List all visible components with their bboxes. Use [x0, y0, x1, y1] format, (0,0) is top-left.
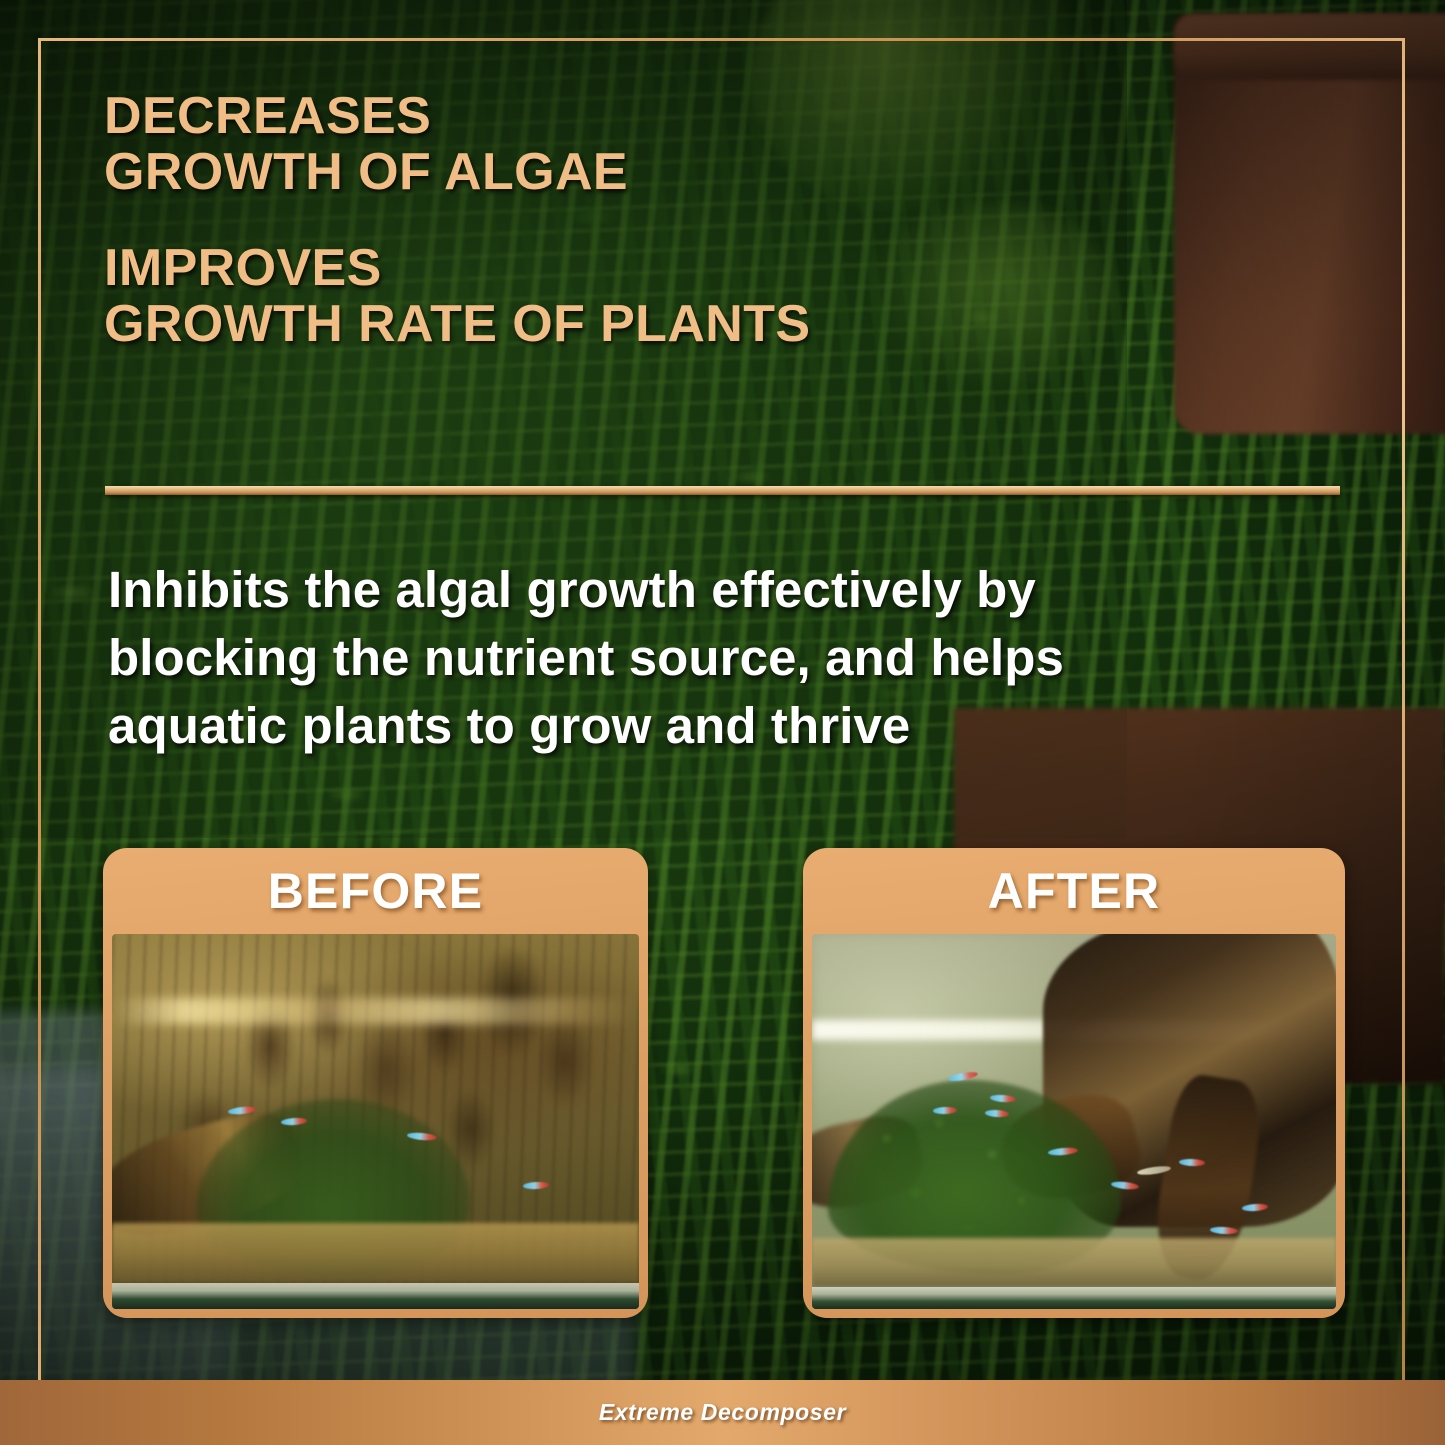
after-fish-3: [932, 1106, 956, 1114]
footer-brand-bar: Extreme Decomposer: [0, 1380, 1445, 1445]
before-card: BEFORE: [103, 848, 648, 1318]
body-copy-line-2: blocking the nutrient source, and helps: [108, 624, 1308, 692]
body-copy-block: Inhibits the algal growth effectively by…: [108, 556, 1308, 759]
headline-gap: [104, 200, 1104, 240]
footer-brand-name: Extreme Decomposer: [599, 1399, 846, 1426]
body-copy-line-3: aquatic plants to grow and thrive: [108, 692, 1308, 760]
after-card: AFTER: [803, 848, 1345, 1318]
product-benefit-poster: DECREASES GROWTH OF ALGAE IMPROVES GROWT…: [0, 0, 1445, 1445]
body-copy-line-1: Inhibits the algal growth effectively by: [108, 556, 1308, 624]
after-label: AFTER: [803, 848, 1345, 934]
headline-line-2: GROWTH OF ALGAE: [104, 144, 1104, 200]
headline-line-1: DECREASES: [104, 88, 1104, 144]
headline-line-4: GROWTH RATE OF PLANTS: [104, 296, 1104, 352]
before-light-streak: [112, 998, 639, 1024]
headline-line-3: IMPROVES: [104, 240, 1104, 296]
gold-divider-line: [105, 486, 1340, 495]
before-substrate: [112, 1223, 639, 1283]
headline-block: DECREASES GROWTH OF ALGAE IMPROVES GROWT…: [104, 88, 1104, 353]
after-aquarium-photo: [812, 934, 1336, 1309]
before-label: BEFORE: [103, 848, 648, 934]
before-after-comparison: BEFORE VS AFTER: [0, 848, 1445, 1320]
after-tank-rim: [812, 1287, 1336, 1310]
after-substrate: [812, 1238, 1336, 1287]
before-aquarium-photo: [112, 934, 639, 1309]
before-tank-rim: [112, 1283, 639, 1309]
